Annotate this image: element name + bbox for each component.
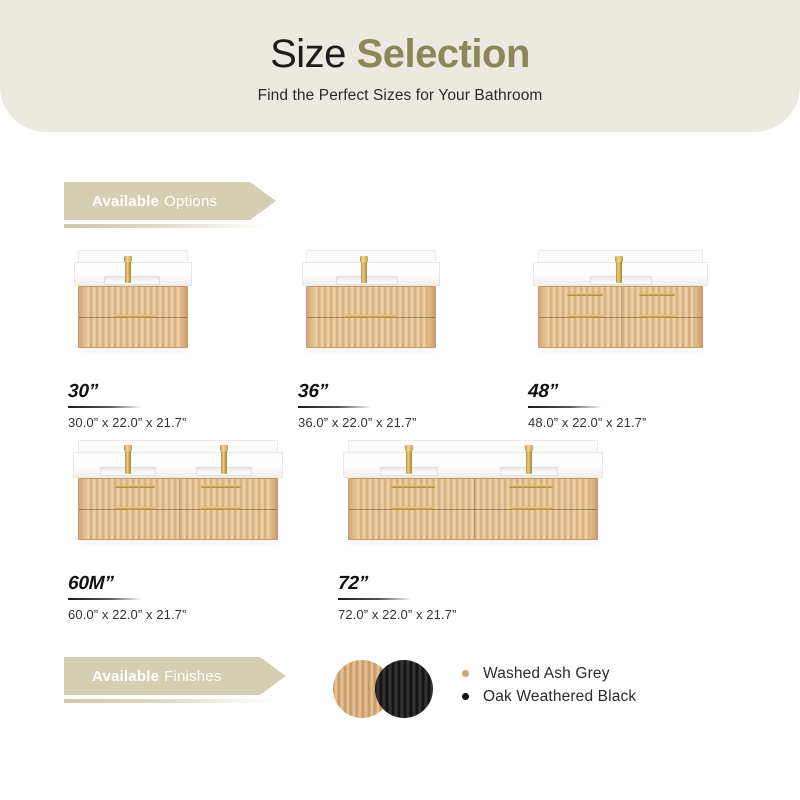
page-subtitle: Find the Perfect Sizes for Your Bathroom [0,87,800,105]
drawer-handle [567,315,603,318]
cabinet-72 [348,478,598,540]
product-label-60m: 60M” 60.0” x 22.0” x 21.7” [68,573,338,622]
label-underline [298,406,372,408]
drawer-handle [115,507,155,510]
product-label-48: 48” 48.0” x 22.0” x 21.7” [528,381,728,430]
page-header: Size Selection Find the Perfect Sizes fo… [0,0,800,132]
finish-name-oak-weathered-black: Oak Weathered Black [483,688,636,706]
banner-regular-text: Options [164,193,217,210]
finish-swatches [333,660,443,722]
page-title: Size Selection [0,30,800,78]
product-card-36[interactable]: 36” 36.0” x 22.0” x 21.7” [298,250,528,430]
faucet-head-right [220,445,228,451]
swatch-oak-weathered-black[interactable] [375,660,433,718]
product-size-60m: 60M” [68,573,114,595]
available-options-banner-label: AvailableOptions [64,182,276,220]
drawer-handle [567,293,603,296]
cabinet-shadow [308,348,434,352]
product-label-36: 36” 36.0” x 22.0” x 21.7” [298,381,528,430]
product-size-30: 30” [68,381,99,403]
drawer-handle [391,507,435,510]
banner-bold-text: Available [92,193,159,210]
sink-basin [336,276,398,285]
vanity-image-72 [338,440,608,562]
faucet-head-left [124,445,132,451]
vanity-image-60m [68,440,288,562]
vanity-image-36 [298,250,448,370]
product-dimensions-60m: 60.0” x 22.0” x 21.7” [68,607,338,622]
available-finishes-banner-label: AvailableFinishes [64,657,286,695]
cabinet-60m [78,478,278,540]
cabinet-center-split [474,479,475,539]
faucet-head [124,256,132,262]
cabinet-shadow [350,540,596,544]
product-dimensions-48: 48.0” x 22.0” x 21.7” [528,415,728,430]
product-label-30: 30” 30.0” x 22.0” x 21.7” [68,381,298,430]
product-size-36: 36” [298,381,329,403]
cabinet-shadow [80,348,186,352]
bullet-dot-icon [462,670,469,677]
product-row-2: 60M” 60.0” x 22.0” x 21.7” [68,440,618,622]
drawer-handle [345,315,397,318]
banner-regular-text: Finishes [164,668,221,685]
faucet-head-left [405,445,413,451]
faucet [616,260,622,283]
bullet-dot-icon [462,693,469,700]
product-dimensions-72: 72.0” x 22.0” x 21.7” [338,607,618,622]
banner-underline [64,699,286,703]
available-finishes-banner: AvailableFinishes [64,657,286,703]
product-card-30[interactable]: 30” 30.0” x 22.0” x 21.7” [68,250,298,430]
drawer-handle [639,293,675,296]
faucet [125,260,131,283]
product-label-72: 72” 72.0” x 22.0” x 21.7” [338,573,618,622]
drawer-handle [509,485,553,488]
faucet [361,260,367,283]
cabinet-36 [306,286,436,348]
label-underline [528,406,602,408]
product-row-1: 30” 30.0” x 22.0” x 21.7” [68,250,728,430]
product-card-48[interactable]: 48” 48.0” x 22.0” x 21.7” [528,250,728,430]
product-dimensions-30: 30.0” x 22.0” x 21.7” [68,415,298,430]
finish-item-washed-ash-grey[interactable]: Washed Ash Grey [462,662,636,685]
banner-bold-text: Available [92,668,159,685]
cabinet-center-split [179,479,180,539]
drawer-handle [201,485,241,488]
cabinet-30 [78,286,188,348]
label-underline [68,406,142,408]
cabinet-48 [538,286,703,348]
product-size-72: 72” [338,573,369,595]
faucet-head-right [525,445,533,451]
faucet-left [406,450,412,474]
finish-item-oak-weathered-black[interactable]: Oak Weathered Black [462,685,636,708]
faucet-head [615,256,623,262]
drawer-divider [79,509,277,510]
faucet-head [360,256,368,262]
drawer-handle [391,485,435,488]
drawer-divider [349,509,597,510]
page-title-bold: Selection [357,32,530,76]
product-card-60m[interactable]: 60M” 60.0” x 22.0” x 21.7” [68,440,338,622]
drawer-handle [509,507,553,510]
sink-basin [104,276,160,285]
cabinet-shadow [540,348,701,352]
drawer-handle [113,315,155,318]
finish-legend: Washed Ash Grey Oak Weathered Black [462,662,636,708]
banner-underline [64,224,276,228]
product-size-48: 48” [528,381,559,403]
size-selection-page: Size Selection Find the Perfect Sizes fo… [0,0,800,800]
cabinet-shadow [80,540,276,544]
label-underline [68,598,142,600]
product-card-72[interactable]: 72” 72.0” x 22.0” x 21.7” [338,440,618,622]
cabinet-center-split [621,287,622,347]
drawer-handle [201,507,241,510]
available-options-banner: AvailableOptions [64,182,276,228]
vanity-image-48 [528,250,713,370]
vanity-image-30 [68,250,198,370]
faucet-right [526,450,532,474]
page-title-light: Size [270,32,346,76]
drawer-handle [115,485,155,488]
drawer-handle [639,315,675,318]
faucet-right [221,450,227,474]
faucet-left [125,450,131,474]
product-dimensions-36: 36.0” x 22.0” x 21.7” [298,415,528,430]
label-underline [338,598,412,600]
finish-name-washed-ash-grey: Washed Ash Grey [483,665,610,683]
